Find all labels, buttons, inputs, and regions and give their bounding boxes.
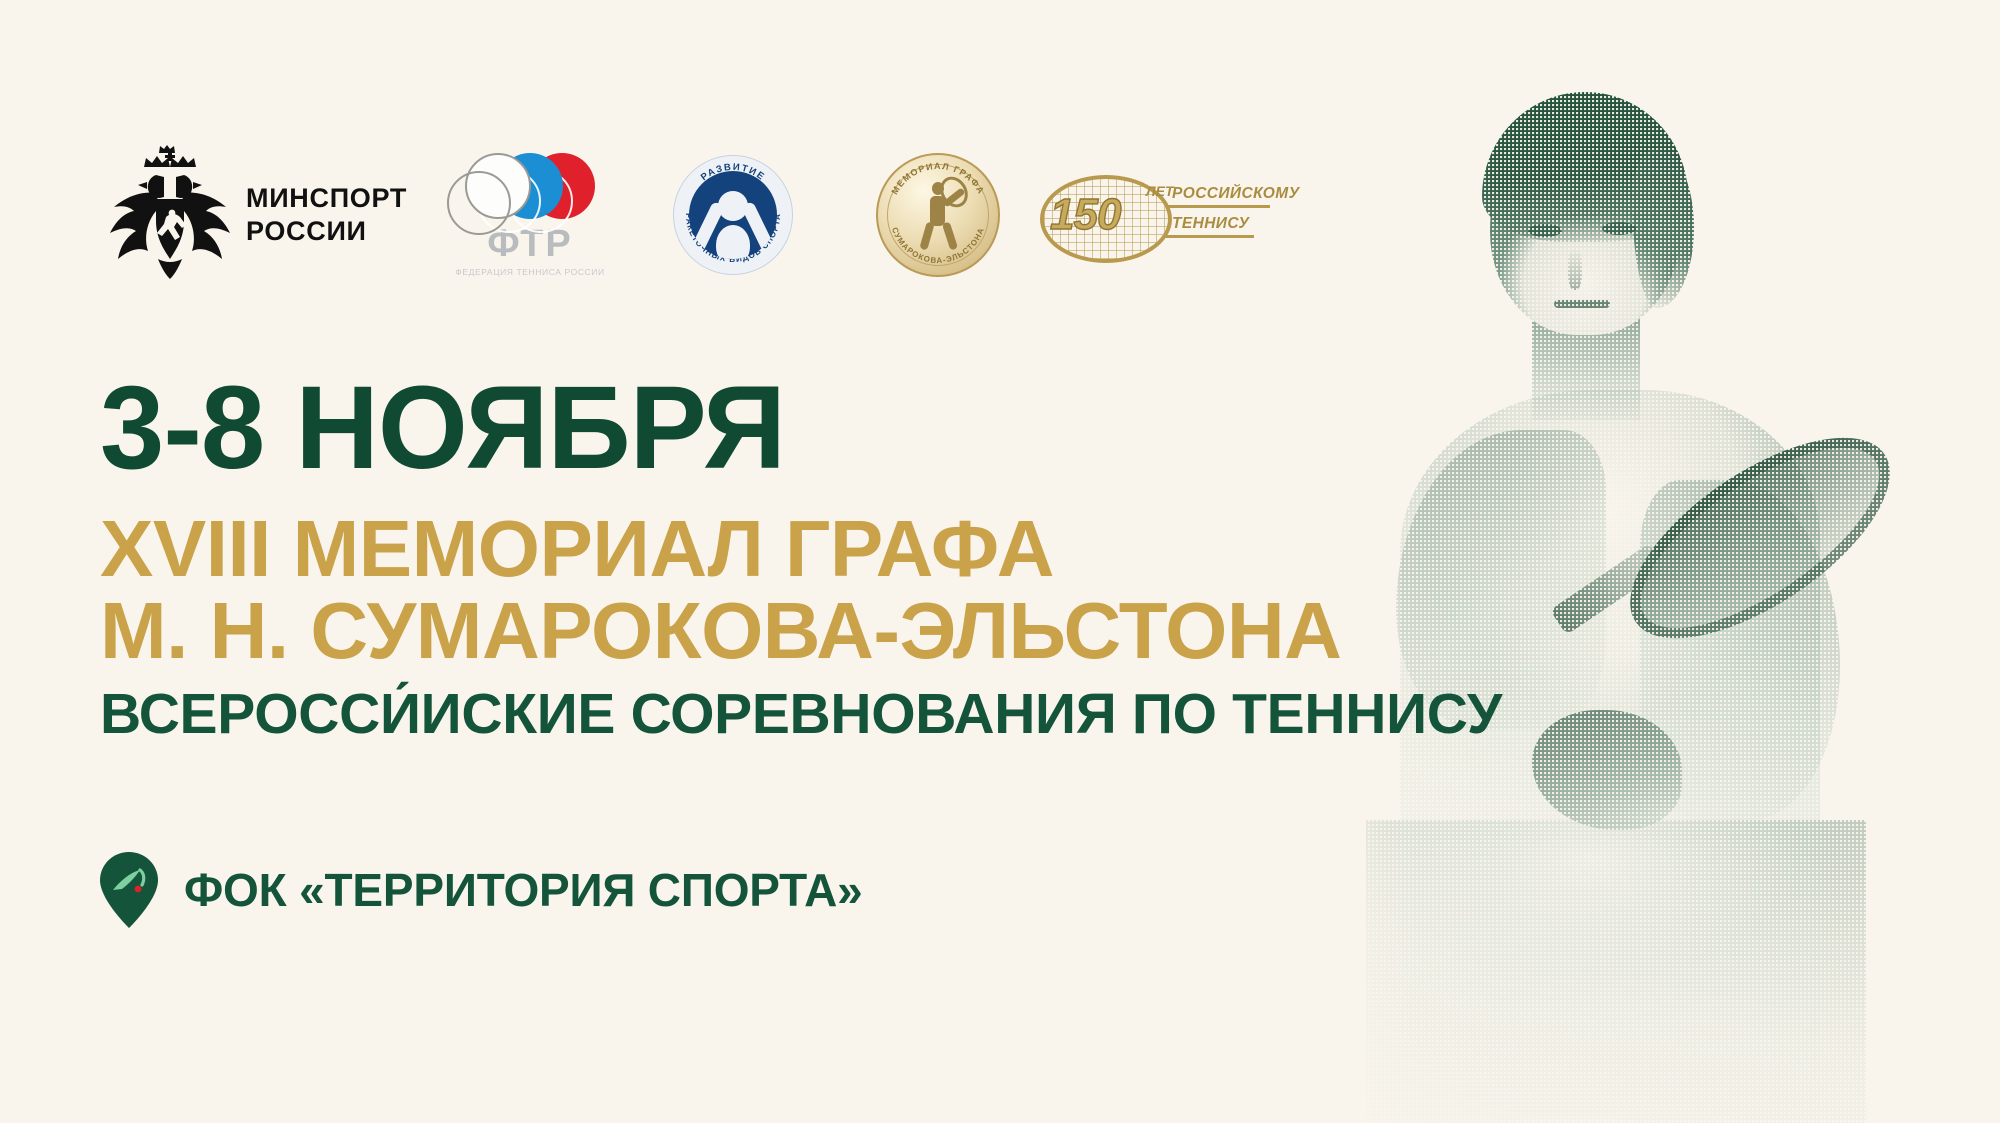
map-pin-icon <box>100 852 158 928</box>
headline-block: 3-8 НОЯБРЯ XVIII МЕМОРИАЛ ГРАФА М. Н. СУ… <box>100 372 1502 745</box>
portrait-right-arm <box>1640 480 1840 820</box>
racket-sports-emblem <box>689 171 777 259</box>
memorial-title-line-1: XVIII МЕМОРИАЛ ГРАФА <box>100 508 1502 590</box>
anniversary-unit: ЛЕТ <box>1146 183 1174 199</box>
anniversary-rule-top <box>1162 205 1270 208</box>
portrait-mouth <box>1554 300 1610 308</box>
tennis-racket-icon <box>1599 399 1922 676</box>
portrait-left-eye <box>1528 224 1562 237</box>
anniversary-mark: 150 ЛЕТ РОССИЙСКОМУ ТЕННИСУ <box>1040 169 1270 261</box>
venue-name: ФОК «ТЕРРИТОРИЯ СПОРТА» <box>184 863 863 917</box>
partner-logo-row: МИНСПОРТ РОССИИ ФТР ФЕДЕРАЦИЯ ТЕННИСА РО… <box>100 140 1290 290</box>
anniversary-line-1: РОССИЙСКОМУ <box>1172 185 1299 203</box>
tennis-player-silhouette-icon <box>918 182 958 248</box>
portrait-right-eye <box>1602 222 1636 235</box>
ftr-caption: ФЕДЕРАЦИЯ ТЕННИСА РОССИИ <box>455 267 604 277</box>
anniversary-line-2: ТЕННИСУ <box>1172 215 1249 233</box>
portrait-neck <box>1532 310 1640 420</box>
portrait-hand <box>1532 710 1682 830</box>
tennis-racket-handle <box>1550 543 1666 635</box>
anniversary-rule-bottom <box>1162 235 1254 238</box>
portrait-head <box>1490 100 1680 335</box>
double-headed-eagle-icon <box>100 145 240 285</box>
portrait-hair-side <box>1632 148 1694 308</box>
racket-sports-badge: РАЗВИТИЕ РАКЕТОЧНЫХ ВИДОВ СПОРТА <box>673 155 793 275</box>
memorial-grafa-sumarokova-elstona-logo[interactable]: МЕМОРИАЛ ГРАФА СУМАРОКОВА-ЭЛЬСТОНА <box>835 153 1040 277</box>
tennis-balls-icon <box>465 153 595 219</box>
figure-body <box>716 225 750 259</box>
event-subtitle: ВСЕРОССИ́ИСКИЕ СОРЕВНОВАНИЯ ПО ТЕННИСУ <box>100 685 1502 745</box>
anniversary-number: 150 <box>1050 190 1120 240</box>
memorial-title-line-2: М. Н. СУМАРОКОВА-ЭЛЬСТОНА <box>100 590 1502 672</box>
minsport-line-2: РОССИИ <box>246 215 407 248</box>
portrait-hair <box>1482 92 1688 242</box>
portrait-nose <box>1568 248 1582 290</box>
tournament-poster: МИНСПОРТ РОССИИ ФТР ФЕДЕРАЦИЯ ТЕННИСА РО… <box>0 0 2000 1123</box>
tennis-ball-white <box>465 153 531 219</box>
memorial-medallion: МЕМОРИАЛ ГРАФА СУМАРОКОВА-ЭЛЬСТОНА <box>876 153 1000 277</box>
minsport-rossii-logo[interactable]: МИНСПОРТ РОССИИ <box>100 145 430 285</box>
event-dates: 3-8 НОЯБРЯ <box>100 372 1474 484</box>
portrait-skirt <box>1366 820 1866 1123</box>
federaciya-tennisa-rossii-logo[interactable]: ФТР ФЕДЕРАЦИЯ ТЕННИСА РОССИИ <box>430 153 630 277</box>
venue-block: ФОК «ТЕРРИТОРИЯ СПОРТА» <box>100 852 863 928</box>
minsport-line-1: МИНСПОРТ <box>246 182 407 215</box>
150-let-rossiyskomu-tennisu-logo[interactable]: 150 ЛЕТ РОССИЙСКОМУ ТЕННИСУ <box>1040 169 1290 261</box>
razvitie-raketochnyh-vidov-sporta-logo[interactable]: РАЗВИТИЕ РАКЕТОЧНЫХ ВИДОВ СПОРТА <box>630 155 835 275</box>
minsport-wordmark: МИНСПОРТ РОССИИ <box>246 182 407 248</box>
